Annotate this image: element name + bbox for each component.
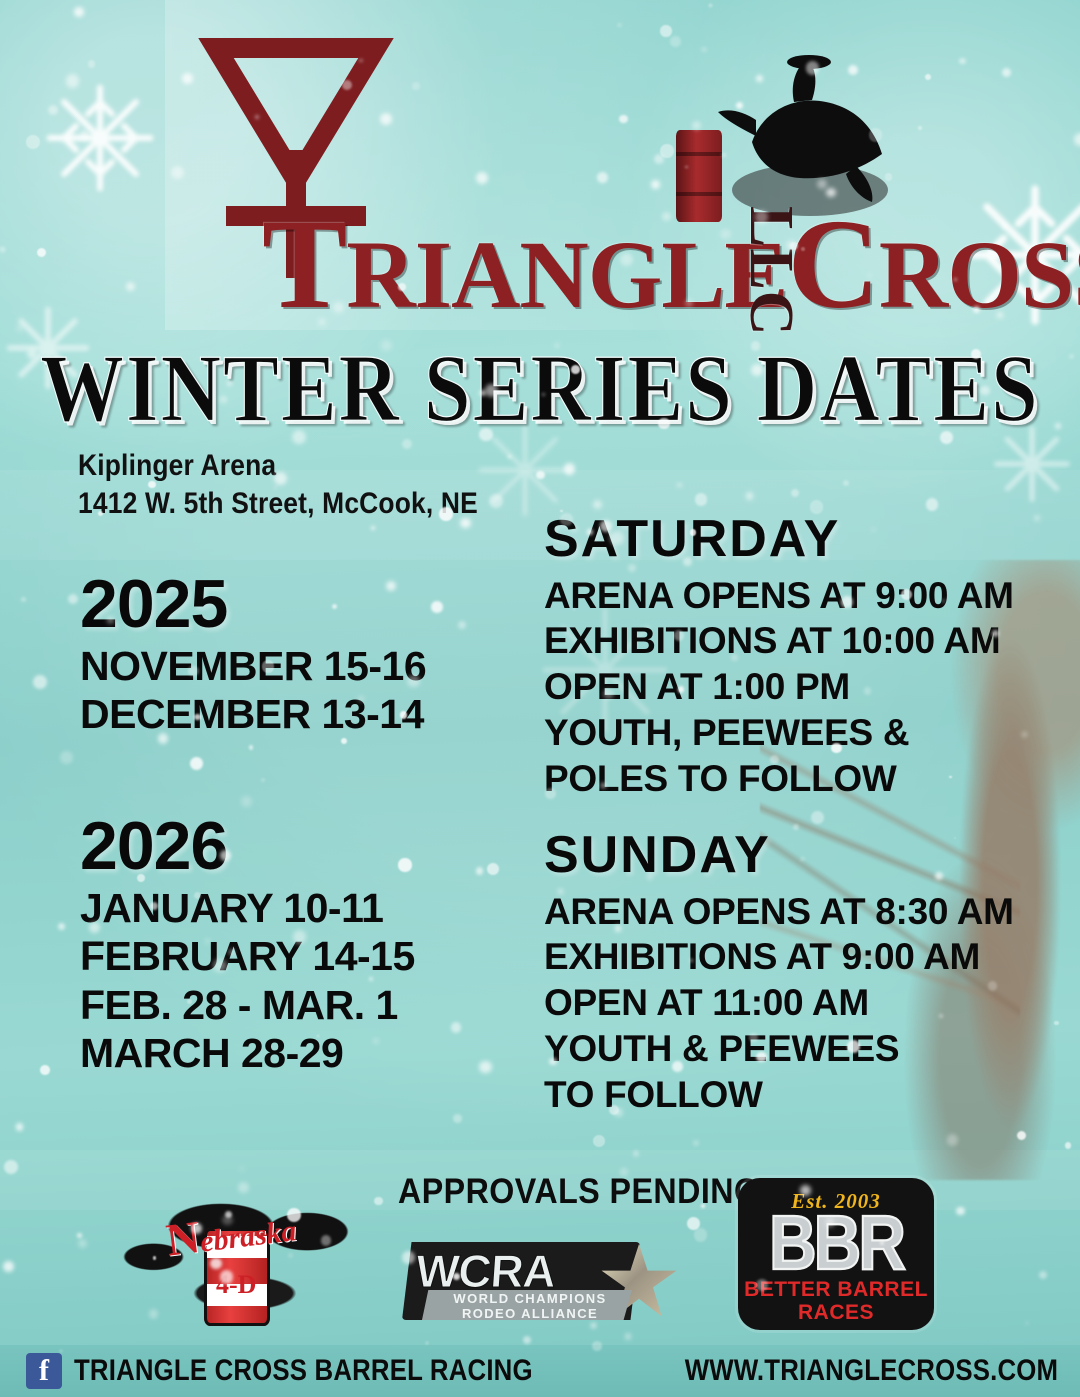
snow-speck — [374, 1197, 382, 1205]
date-group-2025: 2025 NOVEMBER 15-16 DECEMBER 13-14 — [80, 570, 550, 739]
snow-speck — [634, 1151, 638, 1155]
snow-speck — [523, 1336, 531, 1344]
page-title: WINTER SERIES DATES — [0, 333, 1080, 444]
day-heading-saturday: SATURDAY — [544, 512, 1064, 567]
snow-speck — [625, 1333, 632, 1340]
schedule-line: EXHIBITIONS AT 9:00 AM — [544, 934, 1064, 980]
brand-llc-suffix: LLC — [735, 206, 806, 336]
snow-speck — [77, 1233, 82, 1238]
snow-speck — [33, 675, 47, 689]
year-heading-2026: 2026 — [80, 812, 550, 880]
snow-speck — [1065, 1142, 1072, 1149]
nebraska-division-label: 4-D — [216, 1270, 256, 1300]
venue-name: Kiplinger Arena — [78, 447, 478, 485]
schedule-sunday: SUNDAY ARENA OPENS AT 8:30 AM EXHIBITION… — [544, 828, 1064, 1118]
date-line: MARCH 28-29 — [80, 1029, 550, 1077]
nebraska-initial: N — [163, 1211, 202, 1266]
snow-speck — [593, 500, 602, 509]
schedule-line: EXHIBITIONS AT 10:00 AM — [544, 618, 1064, 664]
schedule-line: ARENA OPENS AT 9:00 AM — [544, 573, 1064, 619]
venue-address: 1412 W. 5th Street, McCook, NE — [78, 485, 478, 523]
brand-logo: TRIANGLECROSS LLC — [0, 0, 1080, 330]
snow-speck — [536, 471, 545, 480]
schedule-line: ARENA OPENS AT 8:30 AM — [544, 889, 1064, 935]
snow-speck — [40, 1065, 50, 1075]
brand-wordmark: TRIANGLECROSS — [262, 200, 1080, 328]
snow-speck — [593, 1135, 605, 1147]
snow-speck — [746, 492, 753, 499]
snow-speck — [4, 1160, 18, 1174]
snow-speck — [694, 1141, 698, 1145]
snow-speck — [341, 738, 347, 744]
snow-speck — [694, 1228, 707, 1241]
wcra-subtitle: WORLD CHAMPIONS RODEO ALLIANCE — [430, 1292, 630, 1321]
date-line: FEB. 28 - MAR. 1 — [80, 981, 550, 1029]
snow-speck — [1017, 1131, 1026, 1140]
snow-speck — [68, 594, 78, 604]
date-line: NOVEMBER 15-16 — [80, 642, 550, 690]
date-group-2026: 2026 JANUARY 10-11 FEBRUARY 14-15 FEB. 2… — [80, 812, 550, 1078]
year-heading-2025: 2025 — [80, 570, 550, 638]
date-line: DECEMBER 13-14 — [80, 690, 550, 738]
bbr-subtitle: BETTER BARREL RACES — [738, 1278, 934, 1324]
snow-speck — [956, 1207, 965, 1216]
schedule-line: POLES TO FOLLOW — [544, 756, 1064, 802]
snow-speck — [371, 526, 375, 530]
snow-speck — [811, 811, 824, 824]
snow-speck — [3, 1261, 14, 1272]
snow-speck — [791, 489, 799, 497]
wcra-logo: WCRA WORLD CHAMPIONS RODEO ALLIANCE — [402, 1238, 672, 1328]
wordmark-ross: ROSS — [879, 221, 1080, 328]
date-line: JANUARY 10-11 — [80, 884, 550, 932]
schedule-line: TO FOLLOW — [544, 1072, 1064, 1118]
snow-speck — [58, 923, 65, 930]
snow-speck — [190, 757, 203, 770]
snow-speck — [1039, 1271, 1047, 1279]
wordmark-letter-t: T — [262, 193, 346, 335]
bbr-logo: Est. 2003 BBR BETTER BARREL RACES — [738, 1178, 934, 1330]
facebook-page-name[interactable]: TRIANGLE CROSS BARREL RACING — [74, 1354, 533, 1388]
snow-speck — [78, 1239, 87, 1248]
snow-speck — [240, 1166, 244, 1170]
website-url[interactable]: WWW.TRIANGLECROSS.COM — [685, 1354, 1058, 1388]
snow-speck — [453, 1114, 462, 1123]
snow-speck — [947, 1134, 958, 1145]
snow-speck — [676, 482, 682, 488]
nebraska-word: ebraska — [198, 1214, 298, 1259]
snow-speck — [60, 751, 74, 765]
winter-series-flyer: TRIANGLECROSS LLC WINTER SERIES DATES Ki… — [0, 0, 1080, 1397]
day-heading-sunday: SUNDAY — [544, 828, 1064, 883]
date-line: FEBRUARY 14-15 — [80, 932, 550, 980]
snow-speck — [249, 745, 253, 749]
bbr-acronym: BBR — [738, 1204, 934, 1281]
facebook-icon[interactable]: f — [26, 1353, 62, 1389]
snow-speck — [16, 1123, 24, 1131]
schedule-line: OPEN AT 1:00 PM — [544, 664, 1064, 710]
snow-speck — [564, 463, 576, 475]
snow-speck — [843, 480, 849, 486]
footer-bar: f TRIANGLE CROSS BARREL RACING WWW.TRIAN… — [0, 1345, 1080, 1397]
snow-speck — [687, 1217, 701, 1231]
snow-speck — [695, 493, 708, 506]
snow-speck — [508, 455, 511, 458]
snow-speck — [261, 778, 265, 782]
schedule-line: OPEN AT 11:00 AM — [544, 980, 1064, 1026]
nebraska-4d-logo: Nebraska 4-D — [120, 1178, 360, 1333]
snow-speck — [426, 1342, 428, 1344]
schedule-line: YOUTH, PEEWEES & — [544, 710, 1064, 756]
snow-speck — [241, 796, 252, 807]
schedule-saturday: SATURDAY ARENA OPENS AT 9:00 AM EXHIBITI… — [544, 512, 1064, 802]
approvals-pending-note: APPROVALS PENDING — [398, 1172, 759, 1212]
snow-speck — [926, 498, 938, 510]
venue-block: Kiplinger Arena 1412 W. 5th Street, McCo… — [78, 447, 478, 524]
snow-speck — [21, 597, 26, 602]
wordmark-riangle: RIANGLE — [346, 221, 787, 328]
snow-speck — [489, 494, 503, 508]
snow-speck — [1026, 1322, 1028, 1324]
wcra-acronym: WCRA — [414, 1244, 557, 1298]
schedule-line: YOUTH & PEEWEES — [544, 1026, 1064, 1072]
